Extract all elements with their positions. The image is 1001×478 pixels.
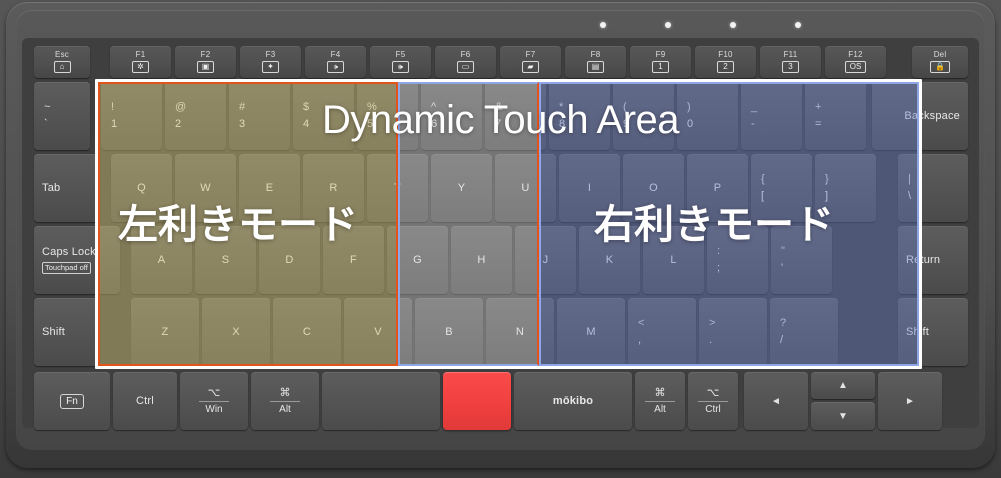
arrow-down-icon: ▼ — [838, 411, 848, 422]
key-x-label: X — [232, 326, 240, 338]
key-win-divider — [199, 401, 229, 402]
key-p-label: P — [714, 182, 722, 194]
key-period[interactable]: >. — [699, 298, 767, 366]
key-b[interactable]: B — [415, 298, 483, 366]
key-alt-left-legend: Alt — [279, 404, 291, 416]
key-bracket-right[interactable]: }] — [815, 154, 876, 222]
key-semicolon[interactable]: :; — [707, 226, 768, 294]
key-j[interactable]: J — [515, 226, 576, 294]
key-layer: Esc⌂F1✲F2▣F3✦F4🕩F5🕪F6▭F7▰F8▤F91F102F113F… — [0, 0, 1001, 478]
key-del[interactable]: Del🔒 — [912, 46, 968, 78]
key-t[interactable]: T — [367, 154, 428, 222]
key-bracket-right-legend: ] — [825, 191, 828, 202]
f1-label: F1 — [136, 51, 146, 59]
key-z-label: Z — [162, 326, 169, 338]
key-shift-left[interactable]: Shift — [34, 298, 100, 366]
key-ctrl-right[interactable]: ⌥Ctrl — [688, 372, 738, 430]
key-8-legend: 8 — [559, 119, 565, 130]
key-space-highlight[interactable] — [443, 372, 511, 430]
key-l-label: L — [670, 254, 676, 266]
key-bracket-left[interactable]: {[ — [751, 154, 812, 222]
touchpad-off-sublabel: Touchpad off — [42, 262, 91, 274]
key-6-shift-legend: ^ — [431, 102, 436, 113]
key-5-shift-legend: % — [367, 102, 377, 113]
key-fn[interactable]: Fn — [34, 372, 110, 430]
key-t-label: T — [394, 182, 401, 194]
key-alt-right-legend: Alt — [654, 404, 666, 416]
key-comma[interactable]: <, — [628, 298, 696, 366]
key-9-legend: 9 — [623, 119, 629, 130]
key-comma-legend: , — [638, 335, 641, 346]
key-return[interactable]: Return — [898, 226, 968, 294]
key-e-label: E — [266, 182, 274, 194]
key-s[interactable]: S — [195, 226, 256, 294]
bluetooth-device-3-icon: 3 — [782, 61, 799, 73]
key-minus[interactable]: _- — [741, 82, 802, 150]
key-space-brand[interactable]: mōkibo — [514, 372, 632, 430]
key-slash-shift-legend: ? — [780, 318, 786, 329]
key-1-legend: 1 — [111, 119, 117, 130]
launchpad-icon: ✦ — [262, 61, 279, 73]
volume-down-icon: 🕩 — [327, 61, 344, 73]
key-3-legend: 3 — [239, 119, 245, 130]
key-9[interactable]: (9 — [613, 82, 674, 150]
key-7-legend: 7 — [495, 119, 501, 130]
key-bracket-left-legend: [ — [761, 191, 764, 202]
key-quote[interactable]: "' — [771, 226, 832, 294]
f8-label: F8 — [591, 51, 601, 59]
key-q-label: Q — [137, 182, 146, 194]
key-5-legend: 5 — [367, 119, 373, 130]
key-u[interactable]: U — [495, 154, 556, 222]
key-4-legend: 4 — [303, 119, 309, 130]
key-3-shift-legend: # — [239, 102, 245, 113]
key-backspace-label: Backspace — [904, 110, 960, 122]
key-space-left[interactable] — [322, 372, 440, 430]
key-f3[interactable]: F3✦ — [240, 46, 301, 78]
key-f6[interactable]: F6▭ — [435, 46, 496, 78]
key-equals-shift-legend: + — [815, 102, 821, 113]
key-v[interactable]: V — [344, 298, 412, 366]
caps-lock-label: Caps Lock — [42, 246, 96, 258]
key-backtick[interactable]: ~` — [34, 82, 90, 150]
key-g-label: G — [413, 254, 422, 266]
key-3[interactable]: #3 — [229, 82, 290, 150]
key-a[interactable]: A — [131, 226, 192, 294]
backtick-legend: ` — [44, 119, 48, 130]
key-q[interactable]: Q — [111, 154, 172, 222]
key-8-shift-legend: * — [559, 102, 563, 113]
key-shift-left-label: Shift — [42, 326, 65, 338]
key-2-shift-legend: @ — [175, 102, 186, 113]
key-0-shift-legend: ) — [687, 102, 691, 113]
key-d-label: D — [285, 254, 293, 266]
f11-label: F11 — [784, 51, 798, 59]
f3-label: F3 — [266, 51, 276, 59]
key-win-legend: Win — [205, 404, 222, 416]
key-7[interactable]: &7 — [485, 82, 546, 150]
key-s-label: S — [222, 254, 230, 266]
key-m-label: M — [586, 326, 595, 338]
key-esc[interactable]: Esc⌂ — [34, 46, 90, 78]
key-f[interactable]: F — [323, 226, 384, 294]
key-alt-left-divider — [270, 401, 300, 402]
key-o[interactable]: O — [623, 154, 684, 222]
key-o-label: O — [649, 182, 658, 194]
key-8[interactable]: *8 — [549, 82, 610, 150]
key-minus-shift-legend: _ — [751, 102, 757, 113]
key-r-label: R — [329, 182, 337, 194]
key-d[interactable]: D — [259, 226, 320, 294]
key-arrow-left[interactable]: ◄ — [744, 372, 808, 430]
f12-label: F12 — [848, 51, 862, 59]
key-j-label: J — [543, 254, 549, 266]
f10-label: F10 — [718, 51, 732, 59]
key-arrow-right[interactable]: ► — [878, 372, 942, 430]
esc-label: Esc — [55, 51, 69, 59]
fn-label: Fn — [60, 394, 84, 409]
key-h-label: H — [477, 254, 485, 266]
key-f11[interactable]: F113 — [760, 46, 821, 78]
del-label: Del — [934, 51, 947, 59]
battery-icon: ▤ — [587, 61, 605, 73]
f2-label: F2 — [201, 51, 211, 59]
key-tab-label: Tab — [42, 182, 60, 194]
key-x[interactable]: X — [202, 298, 270, 366]
key-slash[interactable]: ?/ — [770, 298, 838, 366]
key-4[interactable]: $4 — [293, 82, 354, 150]
keyboard-light-icon: ▭ — [457, 61, 475, 73]
key-2-legend: 2 — [175, 119, 181, 130]
key-f-label: F — [350, 254, 357, 266]
key-u-label: U — [521, 182, 529, 194]
key-ctrl-right-mac-legend: ⌥ — [707, 386, 720, 400]
arrow-up-icon: ▲ — [838, 380, 848, 391]
screen-switch-icon: ▣ — [197, 61, 215, 73]
key-comma-shift-legend: < — [638, 318, 644, 329]
key-5[interactable]: %5 — [357, 82, 418, 150]
f4-label: F4 — [331, 51, 341, 59]
key-alt-right-mac-legend: ⌘ — [655, 386, 666, 400]
key-h[interactable]: H — [451, 226, 512, 294]
volume-up-icon: 🕪 — [392, 61, 409, 73]
key-f2[interactable]: F2▣ — [175, 46, 236, 78]
key-ctrl-right-divider — [698, 401, 728, 402]
key-z[interactable]: Z — [131, 298, 199, 366]
key-win-mac-legend: ⌥ — [208, 386, 221, 400]
key-l[interactable]: L — [643, 226, 704, 294]
backslash-shift-legend: | — [908, 174, 911, 185]
key-n-label: N — [516, 326, 524, 338]
key-alt-right-divider — [645, 401, 675, 402]
key-slash-legend: / — [780, 335, 783, 346]
key-return-label: Return — [906, 254, 940, 266]
arrow-left-icon: ◄ — [771, 396, 781, 407]
bluetooth-device-1-icon: 1 — [652, 61, 669, 73]
key-f4[interactable]: F4🕩 — [305, 46, 366, 78]
key-7-shift-legend: & — [495, 102, 502, 113]
key-r[interactable]: R — [303, 154, 364, 222]
key-minus-legend: - — [751, 119, 755, 130]
f5-label: F5 — [396, 51, 406, 59]
brightness-down-icon: ✲ — [132, 61, 149, 73]
key-1[interactable]: !1 — [101, 82, 162, 150]
bluetooth-device-2-icon: 2 — [717, 61, 734, 73]
key-bracket-left-shift-legend: { — [761, 174, 765, 185]
key-alt-left[interactable]: ⌘Alt — [251, 372, 319, 430]
screenshot-icon: ▰ — [522, 61, 539, 73]
key-backspace[interactable]: Backspace — [872, 82, 968, 150]
key-w[interactable]: W — [175, 154, 236, 222]
key-equals[interactable]: += — [805, 82, 866, 150]
key-ctrl-left[interactable]: Ctrl — [113, 372, 177, 430]
key-f12[interactable]: F12OS — [825, 46, 886, 78]
backtick-shift-legend: ~ — [44, 102, 50, 113]
key-equals-legend: = — [815, 119, 821, 130]
key-6-legend: 6 — [431, 119, 437, 130]
key-f10[interactable]: F102 — [695, 46, 756, 78]
key-f7[interactable]: F7▰ — [500, 46, 561, 78]
home-icon: ⌂ — [54, 61, 71, 73]
backslash-legend: \ — [908, 191, 911, 202]
key-quote-legend: ' — [781, 263, 783, 274]
key-caps-lock[interactable]: Caps LockTouchpad off — [34, 226, 120, 294]
key-tab[interactable]: Tab — [34, 154, 100, 222]
f6-label: F6 — [461, 51, 471, 59]
key-g[interactable]: G — [387, 226, 448, 294]
key-0[interactable]: )0 — [677, 82, 738, 150]
key-f1[interactable]: F1✲ — [110, 46, 171, 78]
f9-label: F9 — [656, 51, 666, 59]
key-arrow-up[interactable]: ▲ — [811, 372, 875, 399]
key-c-label: C — [303, 326, 311, 338]
key-v-label: V — [374, 326, 382, 338]
key-0-legend: 0 — [687, 119, 693, 130]
f7-label: F7 — [526, 51, 536, 59]
key-arrow-down[interactable]: ▼ — [811, 402, 875, 430]
os-switch-icon: OS — [845, 61, 867, 73]
key-quote-shift-legend: " — [781, 246, 785, 257]
key-w-label: W — [200, 182, 211, 194]
key-m[interactable]: M — [557, 298, 625, 366]
key-6[interactable]: ^6 — [421, 82, 482, 150]
key-space-brand-label: mōkibo — [553, 395, 593, 407]
key-shift-right[interactable]: Shift — [898, 298, 968, 366]
key-c[interactable]: C — [273, 298, 341, 366]
key-alt-right[interactable]: ⌘Alt — [635, 372, 685, 430]
key-f9[interactable]: F91 — [630, 46, 691, 78]
key-k-label: K — [606, 254, 614, 266]
key-4-shift-legend: $ — [303, 102, 309, 113]
key-alt-left-mac-legend: ⌘ — [280, 386, 291, 400]
key-backslash[interactable]: |\ — [898, 154, 968, 222]
keyboard-device: Esc⌂F1✲F2▣F3✦F4🕩F5🕪F6▭F7▰F8▤F91F102F113F… — [0, 0, 1001, 478]
key-y-label: Y — [458, 182, 466, 194]
key-i-label: I — [588, 182, 591, 194]
key-bracket-right-shift-legend: } — [825, 174, 829, 185]
key-n[interactable]: N — [486, 298, 554, 366]
key-semicolon-legend: ; — [717, 263, 720, 274]
key-semicolon-shift-legend: : — [717, 246, 720, 257]
key-a-label: A — [158, 254, 166, 266]
key-y[interactable]: Y — [431, 154, 492, 222]
key-period-legend: . — [709, 335, 712, 346]
key-f8[interactable]: F8▤ — [565, 46, 626, 78]
key-9-shift-legend: ( — [623, 102, 627, 113]
key-b-label: B — [445, 326, 453, 338]
key-win[interactable]: ⌥Win — [180, 372, 248, 430]
key-k[interactable]: K — [579, 226, 640, 294]
key-shift-right-label: Shift — [906, 326, 929, 338]
key-2[interactable]: @2 — [165, 82, 226, 150]
lock-icon: 🔒 — [930, 61, 950, 73]
key-ctrl-right-legend: Ctrl — [705, 404, 721, 416]
key-f5[interactable]: F5🕪 — [370, 46, 431, 78]
key-1-shift-legend: ! — [111, 102, 114, 113]
key-i[interactable]: I — [559, 154, 620, 222]
key-e[interactable]: E — [239, 154, 300, 222]
key-ctrl-left-label: Ctrl — [136, 395, 154, 407]
key-p[interactable]: P — [687, 154, 748, 222]
arrow-right-icon: ► — [905, 396, 915, 407]
key-period-shift-legend: > — [709, 318, 715, 329]
